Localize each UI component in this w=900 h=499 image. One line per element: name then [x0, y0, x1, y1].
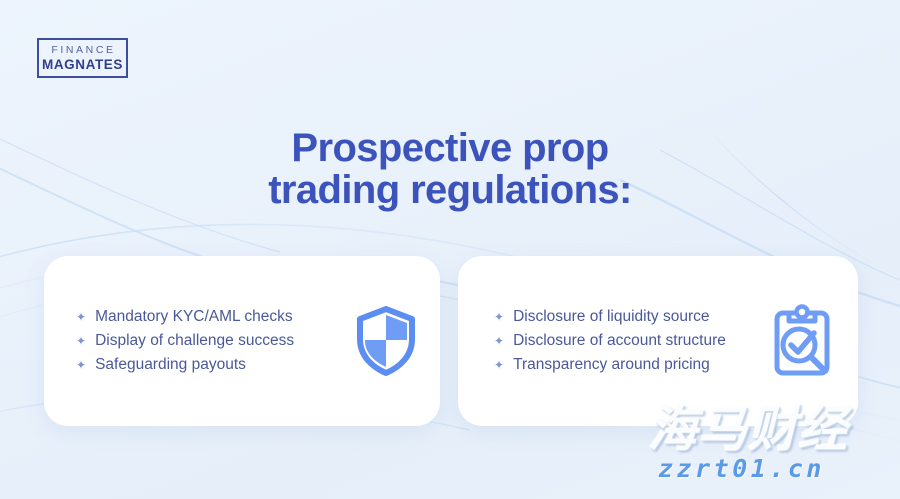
shield-icon — [348, 306, 424, 376]
bullet-list-right: ✦ Disclosure of liquidity source ✦ Discl… — [476, 305, 760, 377]
regulations-card-left: ✦ Mandatory KYC/AML checks ✦ Display of … — [44, 256, 440, 426]
page-title-line-2: trading regulations: — [0, 169, 900, 211]
list-item-label: Disclosure of liquidity source — [513, 305, 709, 329]
logo-text-finance: FINANCE — [49, 44, 115, 57]
list-item-label: Mandatory KYC/AML checks — [95, 305, 293, 329]
sparkle-bullet-icon: ✦ — [494, 305, 504, 329]
regulations-card-right: ✦ Disclosure of liquidity source ✦ Discl… — [458, 256, 858, 426]
sparkle-bullet-icon: ✦ — [494, 353, 504, 377]
slide-canvas: FINANCE MAGNATES Prospective prop tradin… — [0, 0, 900, 499]
list-item: ✦ Safeguarding payouts — [76, 353, 348, 377]
page-title-line-1: Prospective prop — [0, 127, 900, 169]
sparkle-bullet-icon: ✦ — [494, 329, 504, 353]
list-item-label: Display of challenge success — [95, 329, 294, 353]
sparkle-bullet-icon: ✦ — [76, 329, 86, 353]
logo-text-magnates: MAGNATES — [42, 57, 123, 72]
bullet-list-left: ✦ Mandatory KYC/AML checks ✦ Display of … — [58, 305, 348, 377]
list-item: ✦ Mandatory KYC/AML checks — [76, 305, 348, 329]
list-item-label: Safeguarding payouts — [95, 353, 246, 377]
list-item: ✦ Disclosure of account structure — [494, 329, 760, 353]
finance-magnates-logo[interactable]: FINANCE MAGNATES — [37, 38, 128, 78]
sparkle-bullet-icon: ✦ — [76, 353, 86, 377]
list-item-label: Disclosure of account structure — [513, 329, 726, 353]
list-item: ✦ Display of challenge success — [76, 329, 348, 353]
clipboard-check-search-icon — [760, 303, 844, 379]
sparkle-bullet-icon: ✦ — [76, 305, 86, 329]
list-item-label: Transparency around pricing — [513, 353, 710, 377]
list-item: ✦ Disclosure of liquidity source — [494, 305, 760, 329]
list-item: ✦ Transparency around pricing — [494, 353, 760, 377]
page-title: Prospective prop trading regulations: — [0, 127, 900, 211]
watermark-domain-text: zzrt01.cn — [648, 454, 900, 484]
